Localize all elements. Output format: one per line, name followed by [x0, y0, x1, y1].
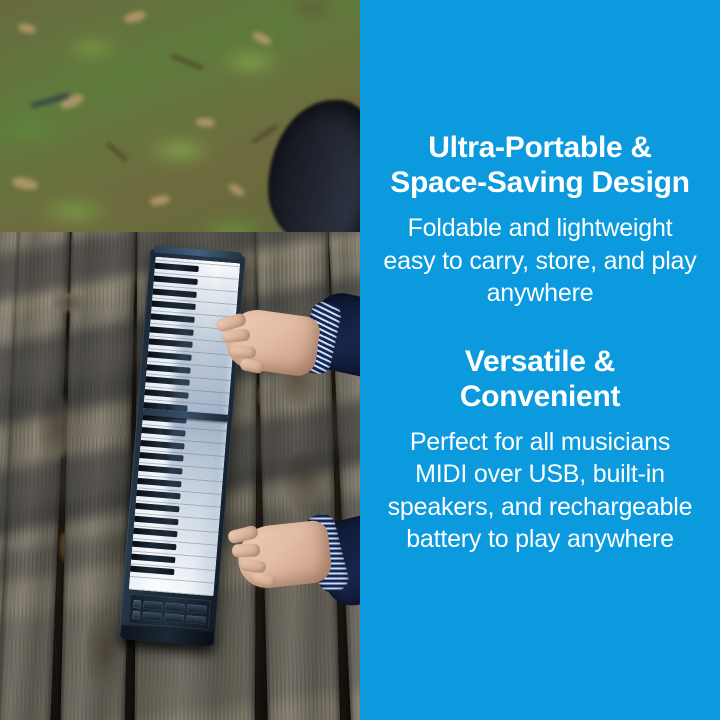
feature-text-panel: Ultra-Portable & Space-Saving Design Fol… [360, 0, 720, 720]
control-button[interactable] [165, 602, 185, 611]
finger [230, 345, 257, 359]
control-button[interactable] [164, 613, 184, 622]
mode-button[interactable] [132, 610, 140, 619]
feature-block-portability: Ultra-Portable & Space-Saving Design Fol… [382, 130, 698, 310]
product-photo [0, 0, 360, 720]
control-button[interactable] [186, 615, 206, 624]
feature-body-portability: Foldable and lightweight easy to carry, … [382, 212, 698, 310]
control-row-bottom [132, 610, 205, 624]
control-button[interactable] [187, 604, 207, 613]
control-panel[interactable] [128, 594, 211, 630]
control-button[interactable] [143, 600, 163, 609]
feature-block-versatility: Versatile & Convenient Perfect for all m… [382, 344, 698, 556]
feature-title-versatility: Versatile & Convenient [382, 344, 698, 414]
feature-body-versatility: Perfect for all musicians MIDI over USB,… [382, 426, 698, 556]
finger [232, 544, 260, 558]
feature-title-portability: Ultra-Portable & Space-Saving Design [382, 130, 698, 200]
product-feature-graphic: Ultra-Portable & Space-Saving Design Fol… [0, 0, 720, 720]
power-button[interactable] [133, 599, 141, 608]
control-button[interactable] [142, 611, 162, 620]
